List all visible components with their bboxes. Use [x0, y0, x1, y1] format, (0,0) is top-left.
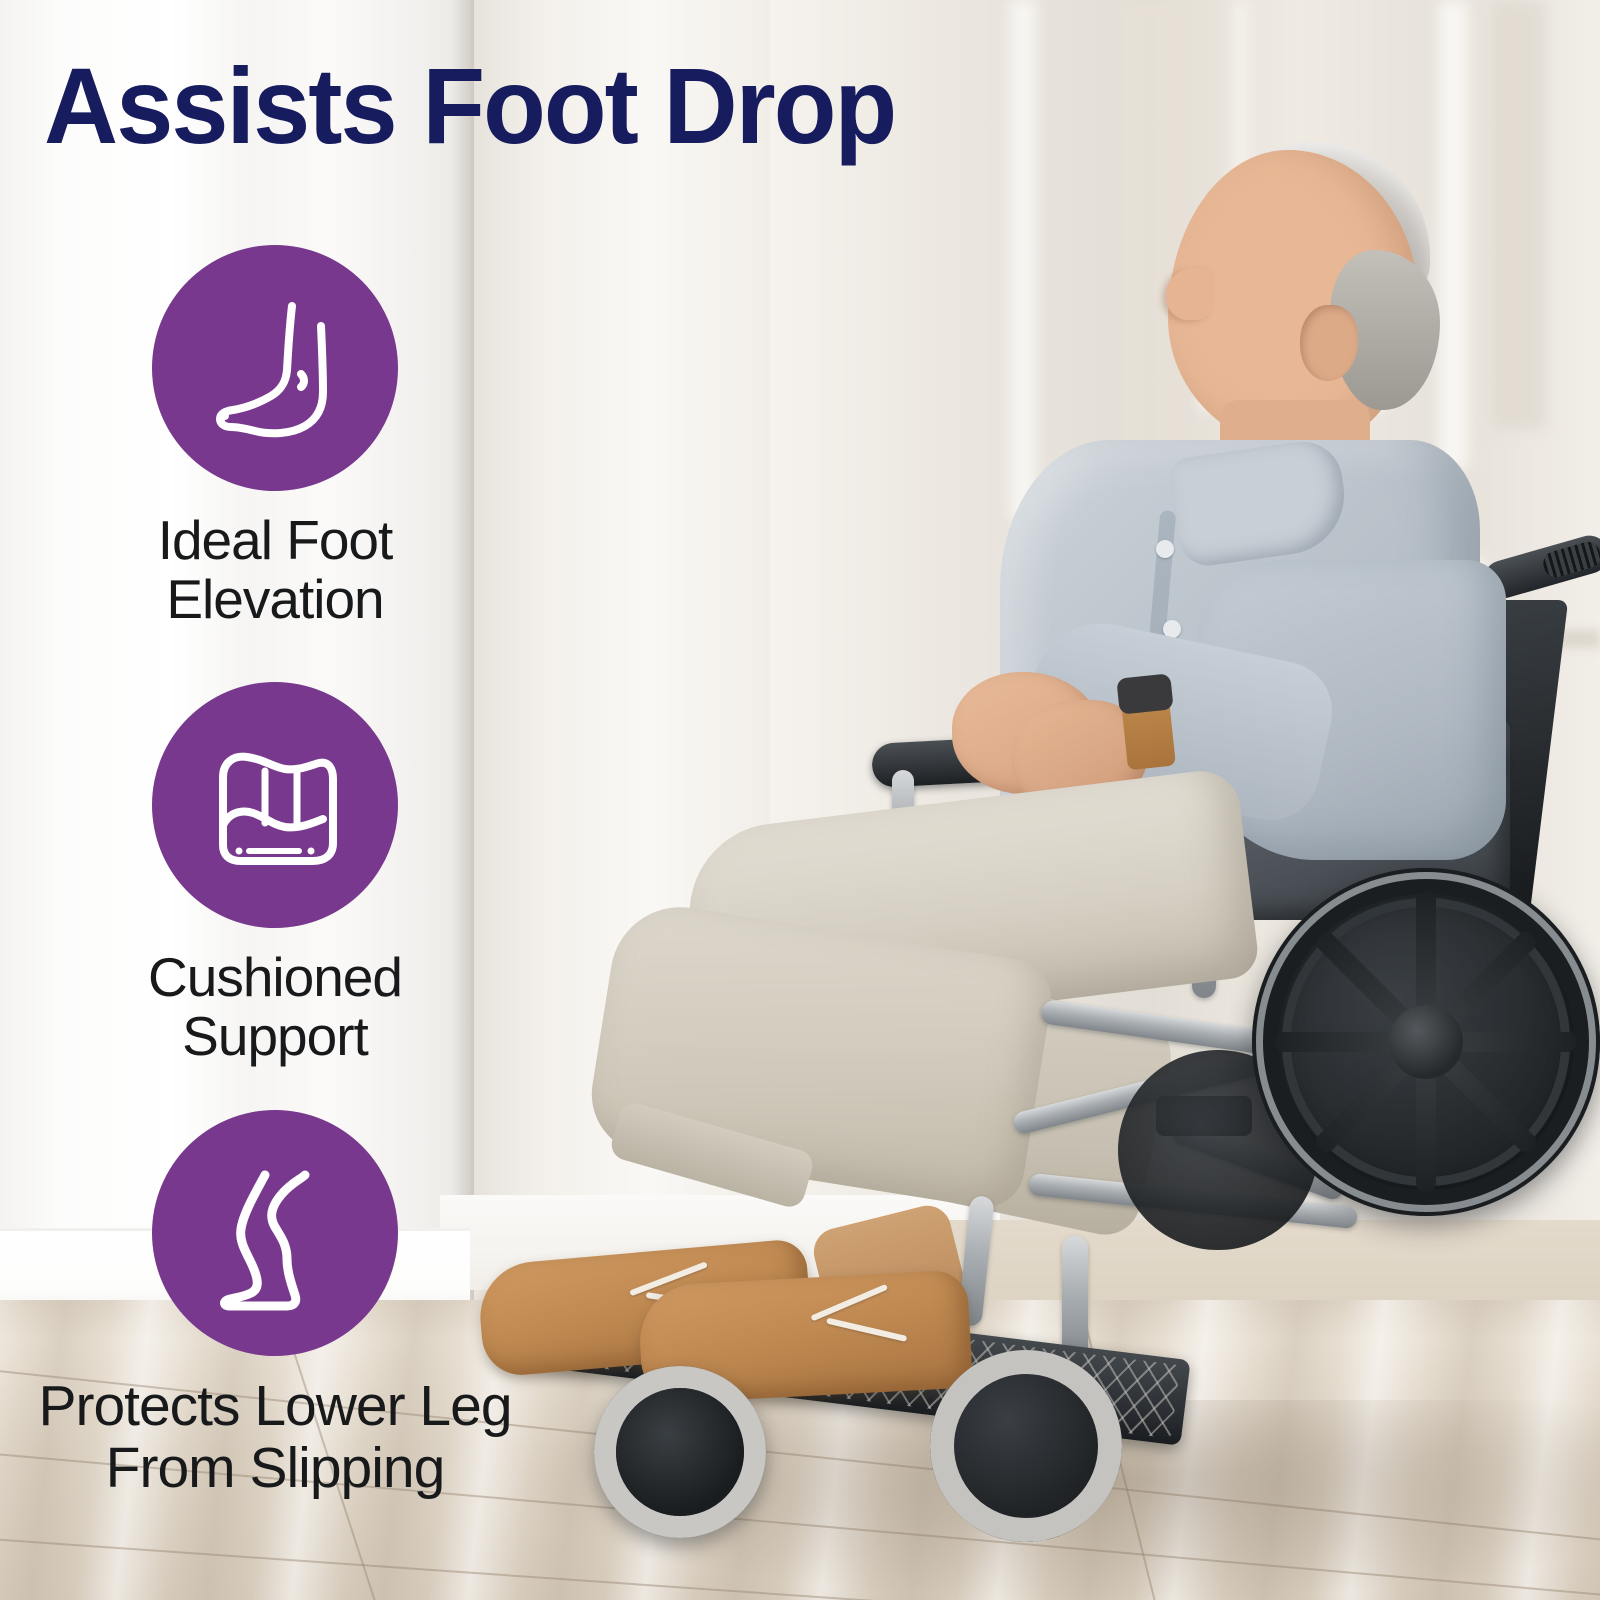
feature-icon-badge	[152, 682, 398, 928]
caption-line-2: Elevation	[166, 568, 383, 630]
caption-line-1: Ideal Foot	[158, 509, 393, 571]
feature-protects-lower-leg: Protects Lower Leg From Slipping	[15, 1110, 535, 1499]
feature-caption: Cushioned Support	[15, 948, 535, 1067]
shoelace	[826, 1318, 907, 1342]
caption-line-2: Support	[182, 1005, 368, 1067]
product-feature-graphic: Assists Foot Drop Ideal Foot Elevation	[0, 0, 1600, 1600]
caption-line-2: From Slipping	[106, 1436, 445, 1500]
feature-ideal-foot-elevation: Ideal Foot Elevation	[15, 245, 535, 630]
handrim	[1256, 872, 1596, 1212]
caption-line-1: Protects Lower Leg	[38, 1374, 511, 1438]
caption-line-1: Cushioned	[148, 946, 402, 1008]
front-caster-wheel	[594, 1366, 766, 1538]
watch-face	[1116, 673, 1173, 714]
nose	[1166, 268, 1214, 320]
foot-side-profile-icon	[195, 288, 355, 448]
caster-hub	[616, 1388, 744, 1516]
feature-caption: Protects Lower Leg From Slipping	[15, 1376, 535, 1499]
wheelchair-wheel-main	[1252, 868, 1600, 1216]
feature-icon-badge	[152, 245, 398, 491]
lower-leg-icon	[195, 1153, 355, 1313]
feature-icon-badge	[152, 1110, 398, 1356]
page-title: Assists Foot Drop	[44, 52, 895, 160]
shirt-button	[1156, 540, 1174, 558]
cushion-pad-icon	[195, 725, 355, 885]
front-caster-far	[930, 1350, 1122, 1542]
shoelace	[810, 1284, 888, 1322]
feature-cushioned-support: Cushioned Support	[15, 682, 535, 1067]
feature-caption: Ideal Foot Elevation	[15, 511, 535, 630]
